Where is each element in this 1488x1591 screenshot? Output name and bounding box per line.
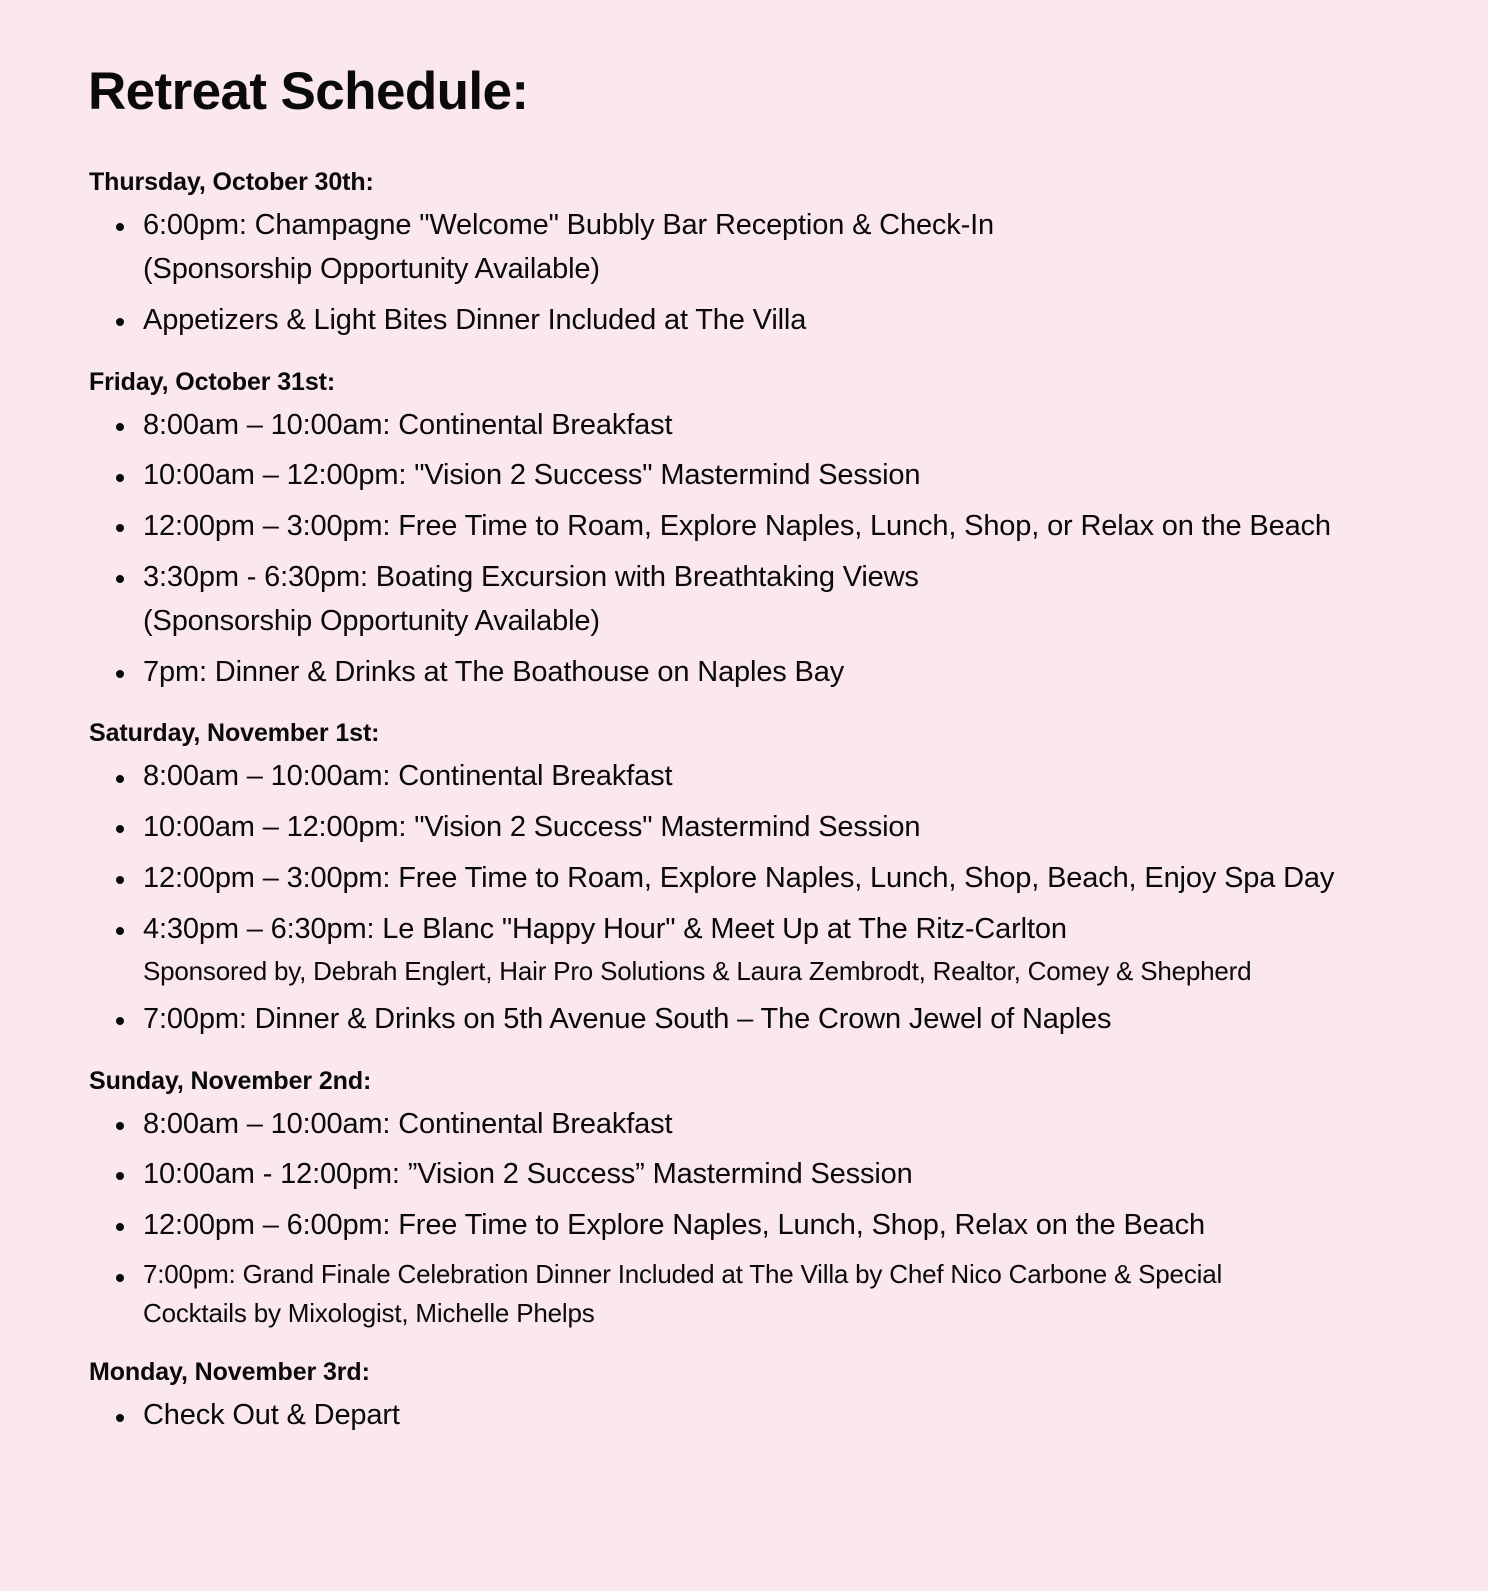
schedule-item-text: 6:00pm: Champagne "Welcome" Bubbly Bar R… (143, 204, 1448, 248)
schedule-item-text: 12:00pm – 3:00pm: Free Time to Roam, Exp… (143, 857, 1448, 901)
schedule-item: 10:00am – 12:00pm: "Vision 2 Success" Ma… (88, 454, 1448, 498)
schedule-item-text: 8:00am – 10:00am: Continental Breakfast (143, 755, 1448, 799)
bullet-icon (116, 1017, 124, 1025)
bullet-icon (116, 474, 124, 482)
schedule-item: 8:00am – 10:00am: Continental Breakfast (88, 404, 1448, 448)
day-heading: Thursday, October 30th: (89, 167, 1448, 197)
page-title: Retreat Schedule: (88, 62, 1448, 121)
schedule-item-subline: Sponsored by, Debrah Englert, Hair Pro S… (143, 952, 1448, 991)
schedule-item: 12:00pm – 3:00pm: Free Time to Roam, Exp… (88, 505, 1448, 549)
bullet-icon (116, 927, 124, 935)
bullet-icon (116, 1172, 124, 1180)
bullet-icon (116, 670, 124, 678)
schedule-item-text: 10:00am – 12:00pm: "Vision 2 Success" Ma… (143, 806, 1448, 850)
day-heading: Friday, October 31st: (89, 367, 1448, 397)
schedule-page: Retreat Schedule: Thursday, October 30th… (0, 0, 1488, 1591)
schedule-item-text: 4:30pm – 6:30pm: Le Blanc "Happy Hour" &… (143, 908, 1448, 952)
day-heading: Monday, November 3rd: (89, 1357, 1448, 1387)
bullet-icon (116, 1223, 124, 1231)
day-block: Friday, October 31st:8:00am – 10:00am: C… (88, 367, 1448, 695)
day-heading: Sunday, November 2nd: (89, 1066, 1448, 1096)
schedule-item: 4:30pm – 6:30pm: Le Blanc "Happy Hour" &… (88, 908, 1448, 991)
bullet-icon (116, 1122, 124, 1130)
bullet-icon (116, 318, 124, 326)
schedule-item: Check Out & Depart (88, 1394, 1448, 1438)
bullet-icon (116, 1274, 124, 1282)
schedule-item-text: 10:00am - 12:00pm: ”Vision 2 Success” Ma… (143, 1153, 1448, 1197)
schedule-item: 12:00pm – 6:00pm: Free Time to Explore N… (88, 1204, 1448, 1248)
schedule-item: 3:30pm - 6:30pm: Boating Excursion with … (88, 556, 1448, 644)
schedule-item-subline: (Sponsorship Opportunity Available) (143, 248, 1448, 292)
bullet-icon (116, 1414, 124, 1422)
schedule-item-text: 7:00pm: Dinner & Drinks on 5th Avenue So… (143, 998, 1448, 1042)
schedule-item: 8:00am – 10:00am: Continental Breakfast (88, 755, 1448, 799)
day-block: Monday, November 3rd:Check Out & Depart (88, 1357, 1448, 1438)
day-item-list: 8:00am – 10:00am: Continental Breakfast1… (88, 755, 1448, 1041)
schedule-item-text: Appetizers & Light Bites Dinner Included… (143, 299, 1448, 343)
schedule-item: 10:00am - 12:00pm: ”Vision 2 Success” Ma… (88, 1153, 1448, 1197)
day-block: Thursday, October 30th:6:00pm: Champagne… (88, 167, 1448, 342)
schedule-item-text: 7:00pm: Grand Finale Celebration Dinner … (143, 1255, 1448, 1294)
schedule-item-text: 10:00am – 12:00pm: "Vision 2 Success" Ma… (143, 454, 1448, 498)
day-item-list: 6:00pm: Champagne "Welcome" Bubbly Bar R… (88, 204, 1448, 342)
day-block: Sunday, November 2nd:8:00am – 10:00am: C… (88, 1066, 1448, 1334)
schedule-item-subline: Cocktails by Mixologist, Michelle Phelps (143, 1294, 1448, 1333)
schedule-item: 8:00am – 10:00am: Continental Breakfast (88, 1103, 1448, 1147)
schedule-item-text: 7pm: Dinner & Drinks at The Boathouse on… (143, 651, 1448, 695)
schedule-item-text: 8:00am – 10:00am: Continental Breakfast (143, 1103, 1448, 1147)
day-item-list: 8:00am – 10:00am: Continental Breakfast1… (88, 404, 1448, 695)
day-item-list: 8:00am – 10:00am: Continental Breakfast1… (88, 1103, 1448, 1334)
schedule-item: 7pm: Dinner & Drinks at The Boathouse on… (88, 651, 1448, 695)
day-item-list: Check Out & Depart (88, 1394, 1448, 1438)
schedule-item-text: 3:30pm - 6:30pm: Boating Excursion with … (143, 556, 1448, 600)
schedule-item-text: 12:00pm – 6:00pm: Free Time to Explore N… (143, 1204, 1448, 1248)
schedule-item: 6:00pm: Champagne "Welcome" Bubbly Bar R… (88, 204, 1448, 292)
schedule-item-text: 12:00pm – 3:00pm: Free Time to Roam, Exp… (143, 505, 1448, 549)
bullet-icon (116, 423, 124, 431)
bullet-icon (116, 825, 124, 833)
day-block: Saturday, November 1st:8:00am – 10:00am:… (88, 718, 1448, 1041)
schedule-item: Appetizers & Light Bites Dinner Included… (88, 299, 1448, 343)
schedule-item: 7:00pm: Dinner & Drinks on 5th Avenue So… (88, 998, 1448, 1042)
schedule-item-text: Check Out & Depart (143, 1394, 1448, 1438)
schedule-item: 12:00pm – 3:00pm: Free Time to Roam, Exp… (88, 857, 1448, 901)
bullet-icon (116, 775, 124, 783)
bullet-icon (116, 524, 124, 532)
bullet-icon (116, 876, 124, 884)
schedule-item: 10:00am – 12:00pm: "Vision 2 Success" Ma… (88, 806, 1448, 850)
bullet-icon (116, 223, 124, 231)
schedule-item-text: 8:00am – 10:00am: Continental Breakfast (143, 404, 1448, 448)
day-sections: Thursday, October 30th:6:00pm: Champagne… (88, 167, 1448, 1438)
day-heading: Saturday, November 1st: (89, 718, 1448, 748)
schedule-item: 7:00pm: Grand Finale Celebration Dinner … (88, 1255, 1448, 1334)
schedule-item-subline: (Sponsorship Opportunity Available) (143, 600, 1448, 644)
bullet-icon (116, 575, 124, 583)
